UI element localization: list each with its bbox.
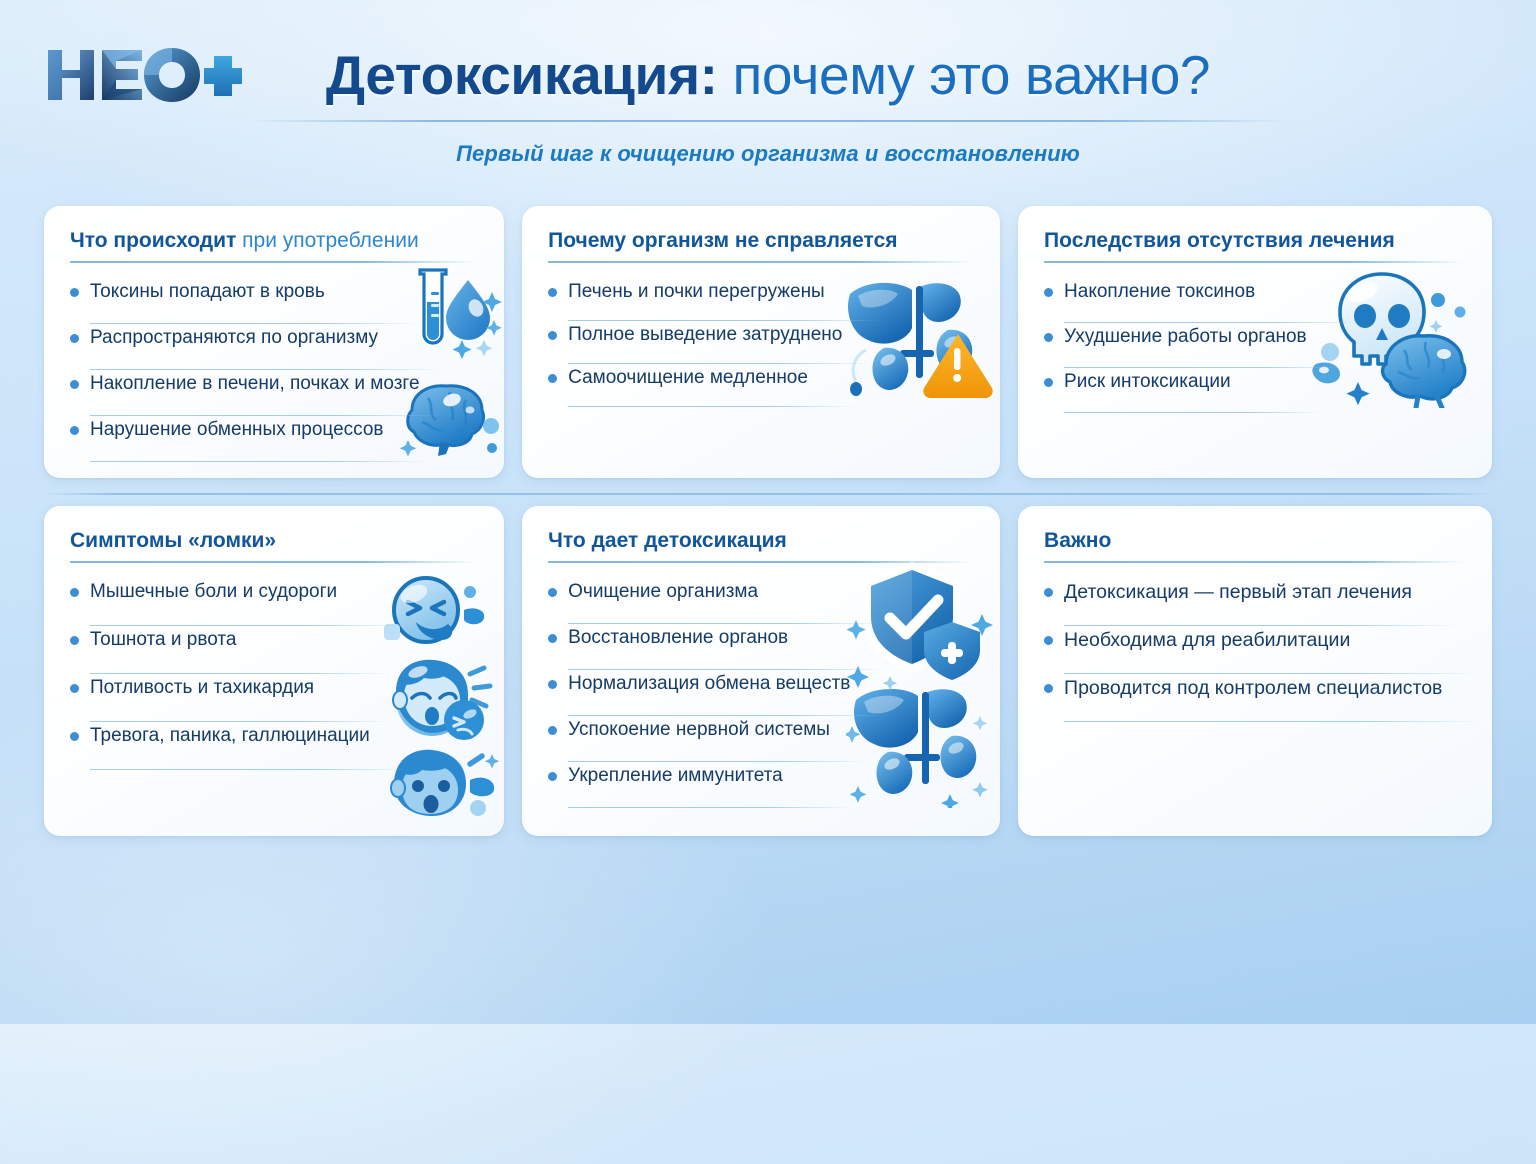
list-item-label: Потливость и тахикардия xyxy=(90,674,314,705)
bullet-dot xyxy=(548,772,557,781)
list-item[interactable]: Мышечные боли и судороги xyxy=(70,578,370,626)
title-divider xyxy=(250,120,1286,122)
card-heading-bold: Последствия отсутствия лечения xyxy=(1044,229,1395,252)
page-title: Детоксикация: почему это важно? xyxy=(0,42,1536,108)
list-item[interactable]: Восстановление органов xyxy=(548,624,850,670)
card-bullet-list: Очищение организма Восстановление органо… xyxy=(548,578,850,808)
list-item[interactable]: Проводится под контролем специалистов xyxy=(1044,674,1442,722)
card-what-happens[interactable]: Что происходит при употреблении xyxy=(44,206,504,478)
shield-organs-icon xyxy=(846,558,996,813)
card-heading: Что происходит при употреблении xyxy=(70,228,478,254)
bullet-dot xyxy=(70,288,79,297)
bullet-dot xyxy=(70,732,79,741)
card-heading-divider xyxy=(1044,261,1464,263)
card-withdrawal-symptoms[interactable]: Симптомы «ломки» xyxy=(44,506,504,836)
list-item-label: Необходима для реабилитации xyxy=(1064,626,1350,657)
list-item-label: Накопление токсинов xyxy=(1064,278,1255,309)
symptom-faces-icon xyxy=(378,568,504,825)
list-item[interactable]: Необходима для реабилитации xyxy=(1044,626,1442,674)
list-item[interactable]: Укрепление иммунитета xyxy=(548,762,850,808)
card-heading: Что дает детоксикация xyxy=(548,528,974,554)
card-heading: Последствия отсутствия лечения xyxy=(1044,228,1466,254)
bullet-dot xyxy=(1044,288,1053,297)
list-item[interactable]: Ухудшение работы органов xyxy=(1044,323,1307,368)
bullet-dot xyxy=(548,726,557,735)
bullet-dot xyxy=(70,380,79,389)
bullet-dot xyxy=(70,588,79,597)
item-underline xyxy=(568,406,856,407)
liver-kidneys-warning-icon xyxy=(840,272,996,417)
list-item[interactable]: Накопление токсинов xyxy=(1044,278,1307,323)
card-bullet-list: Детоксикация — первый этап лечения Необх… xyxy=(1044,578,1442,722)
list-item[interactable]: Накопление в печени, почках и мозге xyxy=(70,370,420,416)
list-item-label: Ухудшение работы органов xyxy=(1064,323,1307,354)
list-item-label: Риск интоксикации xyxy=(1064,368,1231,399)
list-item-label: Нормализация обмена веществ xyxy=(568,670,850,701)
card-heading-divider xyxy=(548,561,972,563)
list-item-label: Нарушение обменных процессов xyxy=(90,416,384,447)
list-item-label: Печень и почки перегружены xyxy=(568,278,825,309)
card-heading-bold: Важно xyxy=(1044,529,1111,552)
page-header: Детоксикация: почему это важно? Первый ш… xyxy=(0,0,1536,190)
list-item[interactable]: Тревога, паника, галлюцинации xyxy=(70,722,370,770)
card-bullet-list: Накопление токсинов Ухудшение работы орг… xyxy=(1044,278,1307,413)
list-item[interactable]: Полное выведение затруднено xyxy=(548,321,842,364)
list-item-label: Детоксикация — первый этап лечения xyxy=(1064,578,1412,609)
card-bullet-list: Токсины попадают в кровь Распространяютс… xyxy=(70,278,420,462)
card-detox-benefits[interactable]: Что дает детоксикация xyxy=(522,506,1000,836)
bullet-dot xyxy=(548,374,557,383)
list-item[interactable]: Печень и почки перегружены xyxy=(548,278,842,321)
card-heading-divider xyxy=(70,561,476,563)
list-item-label: Восстановление органов xyxy=(568,624,788,655)
bullet-dot xyxy=(1044,333,1053,342)
list-item-label: Укрепление иммунитета xyxy=(568,762,783,793)
list-item[interactable]: Самоочищение медленное xyxy=(548,364,842,407)
list-item[interactable]: Нормализация обмена веществ xyxy=(548,670,850,716)
card-heading-divider xyxy=(70,261,476,263)
bullet-dot xyxy=(1044,588,1053,597)
card-consequences[interactable]: Последствия отсутствия лечения xyxy=(1018,206,1492,478)
list-item-label: Самоочищение медленное xyxy=(568,364,808,395)
row-divider xyxy=(42,493,1494,495)
bullet-dot xyxy=(1044,378,1053,387)
bullet-dot xyxy=(548,288,557,297)
item-underline xyxy=(90,769,408,770)
list-item[interactable]: Токсины попадают в кровь xyxy=(70,278,420,324)
bullet-dot xyxy=(70,426,79,435)
list-item-label: Тошнота и рвота xyxy=(90,626,236,657)
card-bullet-list: Мышечные боли и судороги Тошнота и рвота… xyxy=(70,578,370,770)
list-item[interactable]: Потливость и тахикардия xyxy=(70,674,370,722)
bullet-dot xyxy=(548,634,557,643)
card-bullet-list: Печень и почки перегружены Полное выведе… xyxy=(548,278,842,407)
list-item[interactable]: Детоксикация — первый этап лечения xyxy=(1044,578,1442,626)
list-item-label: Распространяются по организму xyxy=(90,324,378,355)
bullet-dot xyxy=(1044,684,1053,693)
list-item-label: Очищение организма xyxy=(568,578,758,609)
list-item[interactable]: Успокоение нервной системы xyxy=(548,716,850,762)
title-emphasis: Детоксикация: xyxy=(326,44,718,106)
page-subtitle: Первый шаг к очищению организма и восста… xyxy=(0,141,1536,167)
skull-brain-icon xyxy=(1310,268,1490,413)
card-row-bottom: Симптомы «ломки» xyxy=(0,506,1536,836)
item-underline xyxy=(1064,721,1482,722)
item-underline xyxy=(90,461,430,462)
list-item-label: Успокоение нервной системы xyxy=(568,716,830,747)
list-item-label: Тревога, паника, галлюцинации xyxy=(90,722,370,753)
list-item-label: Токсины попадают в кровь xyxy=(90,278,325,309)
item-underline xyxy=(1064,412,1322,413)
card-heading-bold: Симптомы «ломки» xyxy=(70,529,276,552)
card-heading: Симптомы «ломки» xyxy=(70,528,478,554)
list-item[interactable]: Распространяются по организму xyxy=(70,324,420,370)
card-why-body-fails[interactable]: Почему организм не справляется xyxy=(522,206,1000,478)
list-item[interactable]: Очищение организма xyxy=(548,578,850,624)
list-item-label: Проводится под контролем специалистов xyxy=(1064,674,1442,705)
bullet-dot xyxy=(70,334,79,343)
title-rest: почему это важно? xyxy=(718,44,1211,106)
card-heading-bold: Что дает детоксикация xyxy=(548,529,787,552)
list-item-label: Накопление в печени, почках и мозге xyxy=(90,370,420,401)
list-item-label: Мышечные боли и судороги xyxy=(90,578,337,609)
card-heading-bold: Что происходит xyxy=(70,229,236,252)
bullet-dot xyxy=(548,588,557,597)
list-item[interactable]: Тошнота и рвота xyxy=(70,626,370,674)
list-item[interactable]: Риск интоксикации xyxy=(1044,368,1307,413)
bullet-dot xyxy=(548,331,557,340)
card-heading-divider xyxy=(548,261,972,263)
card-heading-regular: при употреблении xyxy=(236,229,418,252)
bullet-dot xyxy=(1044,636,1053,645)
bullet-dot xyxy=(548,680,557,689)
list-item-label: Полное выведение затруднено xyxy=(568,321,842,352)
item-underline xyxy=(568,807,852,808)
list-item[interactable]: Нарушение обменных процессов xyxy=(70,416,420,462)
card-heading-divider xyxy=(1044,561,1464,563)
card-important[interactable]: Важно Детоксикация — первый этап лечения… xyxy=(1018,506,1492,836)
bullet-dot xyxy=(70,636,79,645)
card-heading: Почему организм не справляется xyxy=(548,228,974,254)
card-heading-bold: Почему организм не справляется xyxy=(548,229,897,252)
card-heading: Важно xyxy=(1044,528,1466,554)
card-row-top: Что происходит при употреблении xyxy=(0,206,1536,478)
bullet-dot xyxy=(70,684,79,693)
